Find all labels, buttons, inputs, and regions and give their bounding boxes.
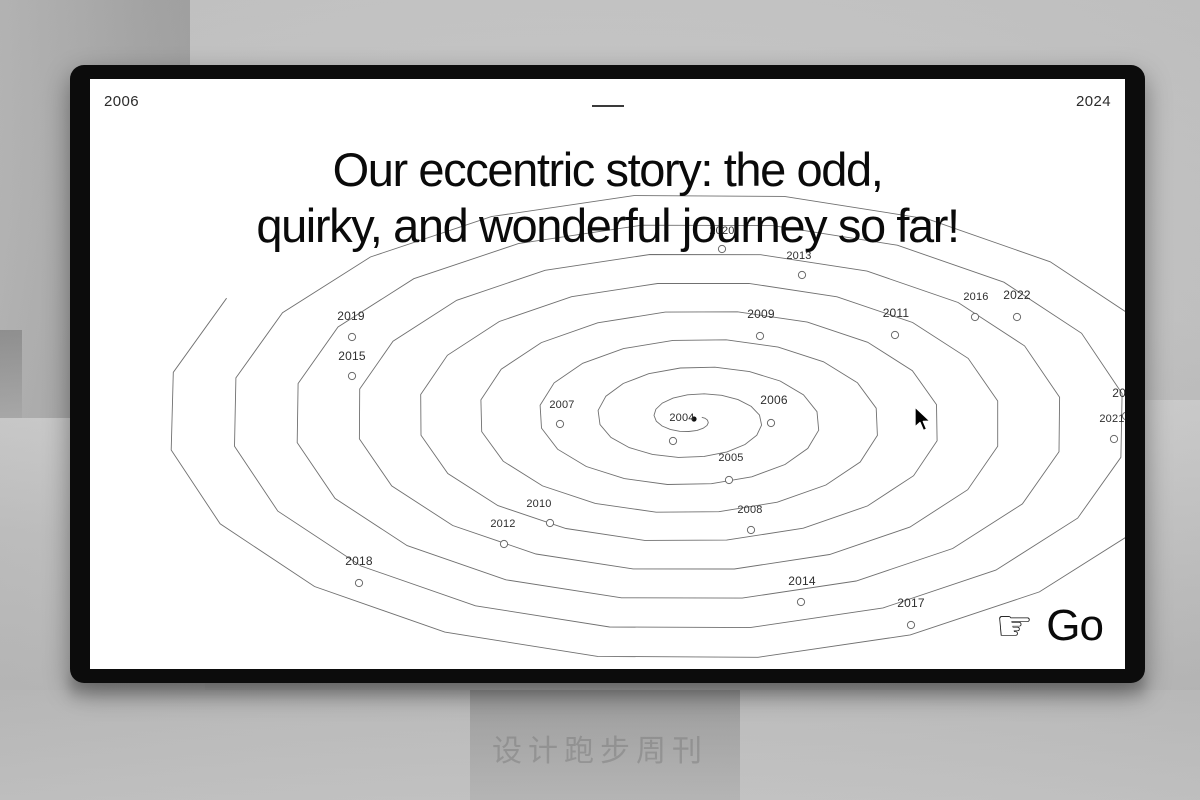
monitor-bezel: 2006 2024 Our eccentric story: the odd, …: [70, 65, 1145, 683]
go-button[interactable]: ☞ Go: [996, 601, 1103, 651]
year-node-2015[interactable]: [348, 372, 355, 379]
year-node-2009[interactable]: [756, 332, 763, 339]
year-label-2019: 2019: [337, 309, 365, 323]
year-node-2011[interactable]: [891, 331, 898, 338]
spiral-timeline-chart: 2004200520062007200820092010201120122013…: [90, 79, 1125, 669]
year-label-2014: 2014: [788, 574, 816, 588]
year-node-2019[interactable]: [348, 333, 355, 340]
go-button-label: Go: [1046, 601, 1103, 651]
year-label-2012: 2012: [490, 518, 515, 530]
year-node-2017[interactable]: [907, 621, 914, 628]
year-node-2010[interactable]: [546, 519, 553, 526]
spiral-curve: [171, 196, 1125, 658]
year-node-2004[interactable]: [669, 437, 676, 444]
year-label-2020: 2020: [709, 225, 734, 237]
spiral-svg: 2004200520062007200820092010201120122013…: [90, 79, 1125, 669]
year-label-2005: 2005: [718, 452, 743, 464]
year-label-2007: 2007: [549, 399, 574, 411]
year-node-2012[interactable]: [500, 540, 507, 547]
spiral-node-group: 2004200520062007200820092010201120122013…: [337, 225, 1125, 629]
screen-content: 2006 2024 Our eccentric story: the odd, …: [90, 79, 1125, 669]
year-node-2008[interactable]: [747, 526, 754, 533]
year-label-2018: 2018: [345, 554, 373, 568]
year-node-2022[interactable]: [1013, 313, 1020, 320]
year-node-2013[interactable]: [798, 271, 805, 278]
year-node-2014[interactable]: [797, 598, 804, 605]
year-node-2023[interactable]: [1122, 412, 1125, 419]
year-label-2013: 2013: [786, 250, 811, 262]
year-label-2006: 2006: [760, 393, 788, 407]
year-node-2005[interactable]: [725, 476, 732, 483]
year-label-2015: 2015: [338, 349, 366, 363]
year-label-2009: 2009: [747, 307, 775, 321]
year-label-2016: 2016: [963, 291, 988, 303]
year-label-2010: 2010: [526, 498, 551, 510]
spiral-path-group: [171, 196, 1125, 658]
year-node-2007[interactable]: [556, 420, 563, 427]
year-node-2016[interactable]: [971, 313, 978, 320]
year-label-2023: 2023: [1112, 386, 1125, 400]
year-node-2006[interactable]: [767, 419, 774, 426]
year-label-2021: 2021: [1099, 413, 1124, 425]
year-label-2017: 2017: [897, 596, 925, 610]
year-node-2018[interactable]: [355, 579, 362, 586]
year-node-2021[interactable]: [1110, 435, 1117, 442]
pointing-hand-icon: ☞: [996, 605, 1034, 647]
year-label-2004: 2004: [669, 412, 694, 424]
year-label-2008: 2008: [737, 504, 762, 516]
year-node-2020[interactable]: [718, 245, 725, 252]
year-label-2022: 2022: [1003, 288, 1031, 302]
year-label-2011: 2011: [883, 306, 910, 320]
